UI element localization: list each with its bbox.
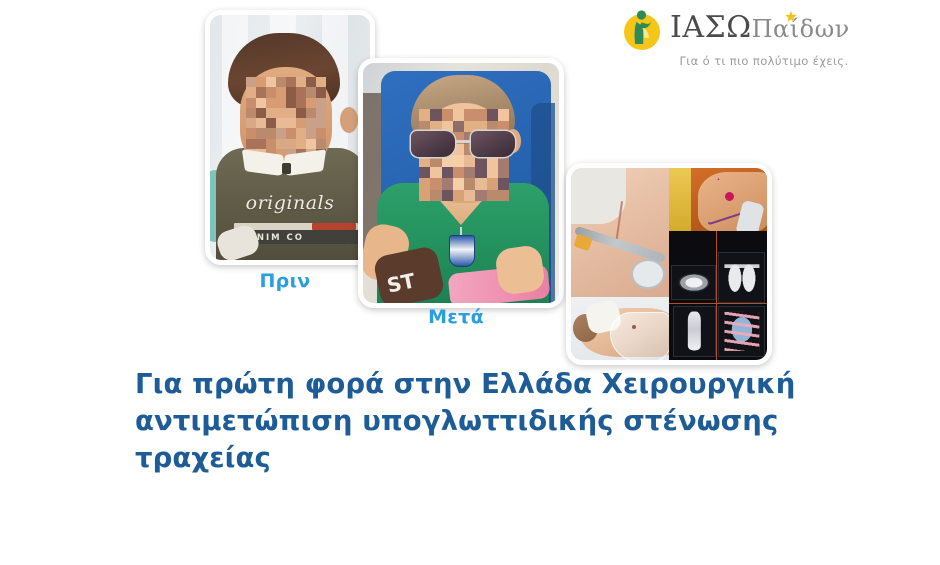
pixel-block [306, 77, 316, 87]
sunglasses-bridge [455, 140, 471, 143]
pixel-block [246, 77, 256, 87]
pixel-block [442, 109, 453, 121]
logo-person-icon [622, 8, 664, 52]
headline-line-1: Για πρώτη φορά στην Ελλάδα Χειρουργική [135, 368, 795, 400]
draped-patient-tile [571, 297, 669, 360]
pixel-block [316, 77, 326, 87]
pixel-block [296, 108, 306, 118]
before-photo-content: originals DENIM CO [210, 15, 370, 260]
pixel-block [256, 128, 266, 138]
pixel-block [256, 108, 266, 118]
before-ear [340, 107, 358, 133]
pixel-block [276, 77, 286, 87]
pixel-block [498, 109, 509, 121]
pixel-block [256, 77, 266, 87]
ct-airway-ring [678, 273, 709, 292]
pixel-block [246, 139, 256, 149]
imaging-crosshair [716, 231, 717, 360]
pixel-block [453, 167, 464, 179]
ct-lung-fields [724, 259, 759, 295]
logo-brand-suffix: Παίδων [752, 15, 850, 43]
logo-brand: ΙΑΣΩ [670, 10, 752, 45]
pixel-block [276, 108, 286, 118]
pixel-block [498, 167, 509, 179]
pixel-block [306, 128, 316, 138]
pixel-block [246, 87, 256, 97]
pixel-block [475, 178, 486, 190]
pixel-block [256, 98, 266, 108]
pixel-block [286, 108, 296, 118]
pixel-block [419, 109, 430, 121]
pixel-block [442, 167, 453, 179]
pixel-block [286, 118, 296, 128]
after-patient-photo[interactable]: ST [358, 58, 564, 308]
pixel-block [306, 118, 316, 128]
ribcage-model [724, 312, 759, 350]
before-garment-red-stripe [312, 223, 356, 230]
pixel-block [316, 128, 326, 138]
3d-trachea-reconstruction [673, 306, 716, 357]
pixel-block [256, 118, 266, 128]
pixel-block [266, 139, 276, 149]
pixel-block [464, 109, 475, 121]
pixel-block [286, 139, 296, 149]
pixel-block [296, 139, 306, 149]
pixel-block [276, 98, 286, 108]
pixel-block [430, 190, 441, 202]
pixel-block [286, 128, 296, 138]
pixel-block [464, 190, 475, 202]
pixel-block [296, 98, 306, 108]
logo-wordmark: ΙΑΣΩΠαίδων [670, 10, 850, 47]
pixel-block [487, 178, 498, 190]
pixel-block [276, 118, 286, 128]
pixel-block [296, 87, 306, 97]
surgical-incision-point [725, 192, 734, 201]
iaso-paidon-logo[interactable]: ΙΑΣΩΠαίδων Για ό τι πιο πολύτιμο έχεις. [622, 6, 852, 76]
pixel-block [498, 178, 509, 190]
logo-tagline: Για ό τι πιο πολύτιμο έχεις. [664, 54, 864, 68]
logo-star-icon [784, 10, 798, 24]
after-badge [449, 235, 475, 267]
tube-fixation-disc [631, 259, 665, 289]
before-patient-photo[interactable]: originals DENIM CO [205, 10, 375, 265]
pixel-block [246, 128, 256, 138]
pixel-block [276, 139, 286, 149]
pixel-block [316, 139, 326, 149]
pixel-block [464, 167, 475, 179]
3d-thorax-reconstruction [718, 306, 765, 357]
pixel-block [316, 108, 326, 118]
pixel-block [296, 128, 306, 138]
pixel-block [266, 98, 276, 108]
pixel-block [246, 98, 256, 108]
ct-axial-slice [671, 265, 716, 300]
pixel-block [464, 178, 475, 190]
pixel-block [419, 178, 430, 190]
headline: Για πρώτη φορά στην Ελλάδα Χειρουργική α… [135, 366, 835, 477]
ct-coronal-slice [718, 252, 765, 303]
pixel-block [498, 190, 509, 202]
caption-after: Μετά [358, 306, 554, 328]
pixel-block [316, 87, 326, 97]
pixel-block [256, 87, 266, 97]
before-garment-text: originals [210, 192, 370, 214]
pixel-block [306, 108, 316, 118]
pixel-block [276, 87, 286, 97]
pixel-block [442, 190, 453, 202]
pixel-block [286, 77, 296, 87]
sunglasses-lens-right [471, 131, 515, 157]
caption-before: Πριν [205, 270, 365, 292]
pixel-block [316, 98, 326, 108]
pixel-block [276, 128, 286, 138]
pixel-block [475, 109, 486, 121]
headline-line-2: αντιμετώπιση υπογλωττιδικής στένωσης τρα… [135, 403, 835, 477]
pixel-block [286, 87, 296, 97]
surgical-field-tile [669, 168, 767, 231]
after-hand-right [494, 244, 546, 296]
pixel-block [286, 98, 296, 108]
pixel-block [453, 178, 464, 190]
pixel-block [266, 108, 276, 118]
imaging-crosshair [669, 303, 767, 304]
pixel-block [296, 118, 306, 128]
skin-mark [632, 325, 636, 329]
neck-drape [571, 168, 626, 224]
pixel-block [306, 98, 316, 108]
pixel-block [246, 118, 256, 128]
collage-content [571, 168, 767, 360]
trachea-model [688, 312, 700, 351]
pixel-block [475, 167, 486, 179]
pixel-block [246, 108, 256, 118]
pixel-block [430, 178, 441, 190]
pixel-block [266, 87, 276, 97]
pixel-block [430, 109, 441, 121]
pixel-block [487, 167, 498, 179]
pixel-block [487, 190, 498, 202]
pixel-block [256, 139, 266, 149]
poster-canvas: ΙΑΣΩΠαίδων Για ό τι πιο πολύτιμο έχεις. … [0, 0, 940, 565]
surgical-drape [669, 168, 691, 231]
pixel-block [453, 190, 464, 202]
sterile-plastic-cover [610, 312, 669, 360]
pixel-block [316, 118, 326, 128]
medical-collage-photo[interactable] [566, 163, 772, 365]
ct-imaging-tile [669, 231, 767, 360]
pixel-block [306, 139, 316, 149]
before-collar-button [282, 163, 291, 174]
pixel-block [419, 190, 430, 202]
pixel-block [266, 128, 276, 138]
after-sunglasses [407, 131, 519, 157]
pixel-block [306, 87, 316, 97]
pixel-block [266, 118, 276, 128]
pixel-block [296, 77, 306, 87]
after-photo-content: ST [363, 63, 559, 303]
pixel-block [475, 190, 486, 202]
sunglasses-lens-left [411, 131, 455, 157]
tracheostomy-neck-tile [571, 168, 669, 297]
pixel-block [419, 167, 430, 179]
pixel-block [453, 109, 464, 121]
logo-mark [622, 8, 664, 50]
pixel-block [487, 109, 498, 121]
pixel-block [430, 167, 441, 179]
pixel-block [266, 77, 276, 87]
before-face-pixelation [246, 77, 326, 159]
pixel-block [442, 178, 453, 190]
